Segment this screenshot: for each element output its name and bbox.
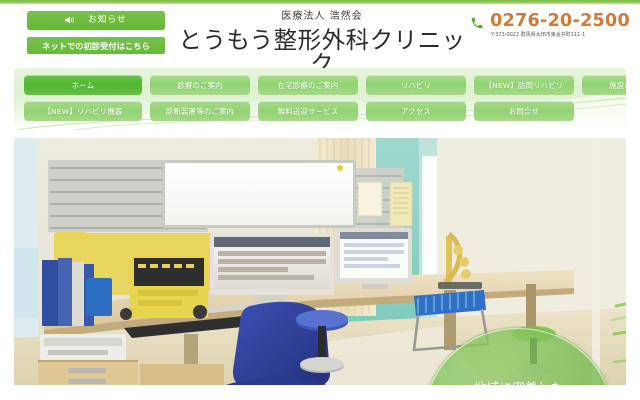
nav-item-free-shuttle-label: 無料送迎サービス [278, 106, 339, 117]
nav-item-visiting-rehabilitation-label: 【NEW】訪問リハビリ [485, 80, 564, 91]
phone-number[interactable]: 0276-20-2500 [490, 13, 630, 31]
online-reservation-label: ネットでの初診受付はこちら [42, 40, 150, 52]
megaphone-icon [65, 16, 74, 26]
nav-item-rehab-equipment-label: 【NEW】リハビリ機器 [44, 106, 123, 117]
online-reservation-button[interactable]: ネットでの初診受付はこちら [27, 37, 165, 54]
nav-item-diagnostic-devices-label: 診断装置等のご案内 [166, 106, 234, 117]
corporation-name: 医療法人 浩然会 [172, 8, 472, 22]
phone-icon [470, 15, 484, 29]
phone-row: 0276-20-2500 [470, 13, 630, 31]
page-root: お知らせ ネットでの初診受付はこちら 医療法人 浩然会 とうもう整形外科クリニッ… [0, 0, 640, 400]
nav-item-facility-guide-label: 施設のご案内 [609, 80, 626, 91]
hero-message-text: 地域に密着した 「やさしい医療」を 提供し、患者様と心で 向かい合います。 [455, 380, 583, 385]
main-navigation: ホーム 診療のご案内 在宅診療のご案内 リハビリ 【NEW】訪問リハビリ 施設の… [14, 68, 626, 130]
brand-block: 医療法人 浩然会 とうもう整形外科クリニック [172, 8, 472, 76]
nav-item-medical-guide-label: 診療のご案内 [177, 80, 223, 91]
nav-item-diagnostic-devices[interactable]: 診断装置等のご案内 [150, 101, 250, 121]
contact-block: 0276-20-2500 〒373-0022 群馬県太田市東金井町111-1 [470, 13, 630, 38]
clinic-address: 〒373-0022 群馬県太田市東金井町111-1 [470, 31, 630, 38]
nav-item-home-label: ホーム [72, 80, 95, 91]
nav-item-contact-label: お問合せ [509, 106, 539, 117]
nav-item-rehab-equipment[interactable]: 【NEW】リハビリ機器 [24, 101, 142, 121]
nav-item-home-care-guide-label: 在宅診療のご案内 [278, 80, 339, 91]
nav-item-home[interactable]: ホーム [24, 75, 142, 95]
news-button-label: お知らせ [88, 16, 127, 25]
nav-item-access-label: アクセス [401, 106, 431, 117]
nav-item-contact[interactable]: お問合せ [474, 101, 574, 121]
nav-item-rehabilitation[interactable]: リハビリ [366, 75, 466, 95]
hero-banner: 地域に密着した 「やさしい医療」を 提供し、患者様と心で 向かい合います。 [14, 138, 626, 385]
nav-item-rehabilitation-label: リハビリ [401, 80, 431, 91]
nav-row-2: 【NEW】リハビリ機器 診断装置等のご案内 無料送迎サービス アクセス お問合せ [24, 101, 574, 121]
nav-item-visiting-rehabilitation[interactable]: 【NEW】訪問リハビリ [474, 75, 574, 95]
news-button[interactable]: お知らせ [27, 11, 165, 30]
site-header: お知らせ ネットでの初診受付はこちら 医療法人 浩然会 とうもう整形外科クリニッ… [0, 4, 640, 66]
nav-item-home-care-guide[interactable]: 在宅診療のご案内 [258, 75, 358, 95]
nav-item-access[interactable]: アクセス [366, 101, 466, 121]
nav-item-medical-guide[interactable]: 診療のご案内 [150, 75, 250, 95]
nav-item-facility-guide[interactable]: 施設のご案内 [582, 75, 626, 95]
nav-item-free-shuttle[interactable]: 無料送迎サービス [258, 101, 358, 121]
nav-row-1: ホーム 診療のご案内 在宅診療のご案内 リハビリ 【NEW】訪問リハビリ 施設の… [24, 75, 626, 95]
hero-message-line-1: 地域に密着した [455, 380, 583, 385]
